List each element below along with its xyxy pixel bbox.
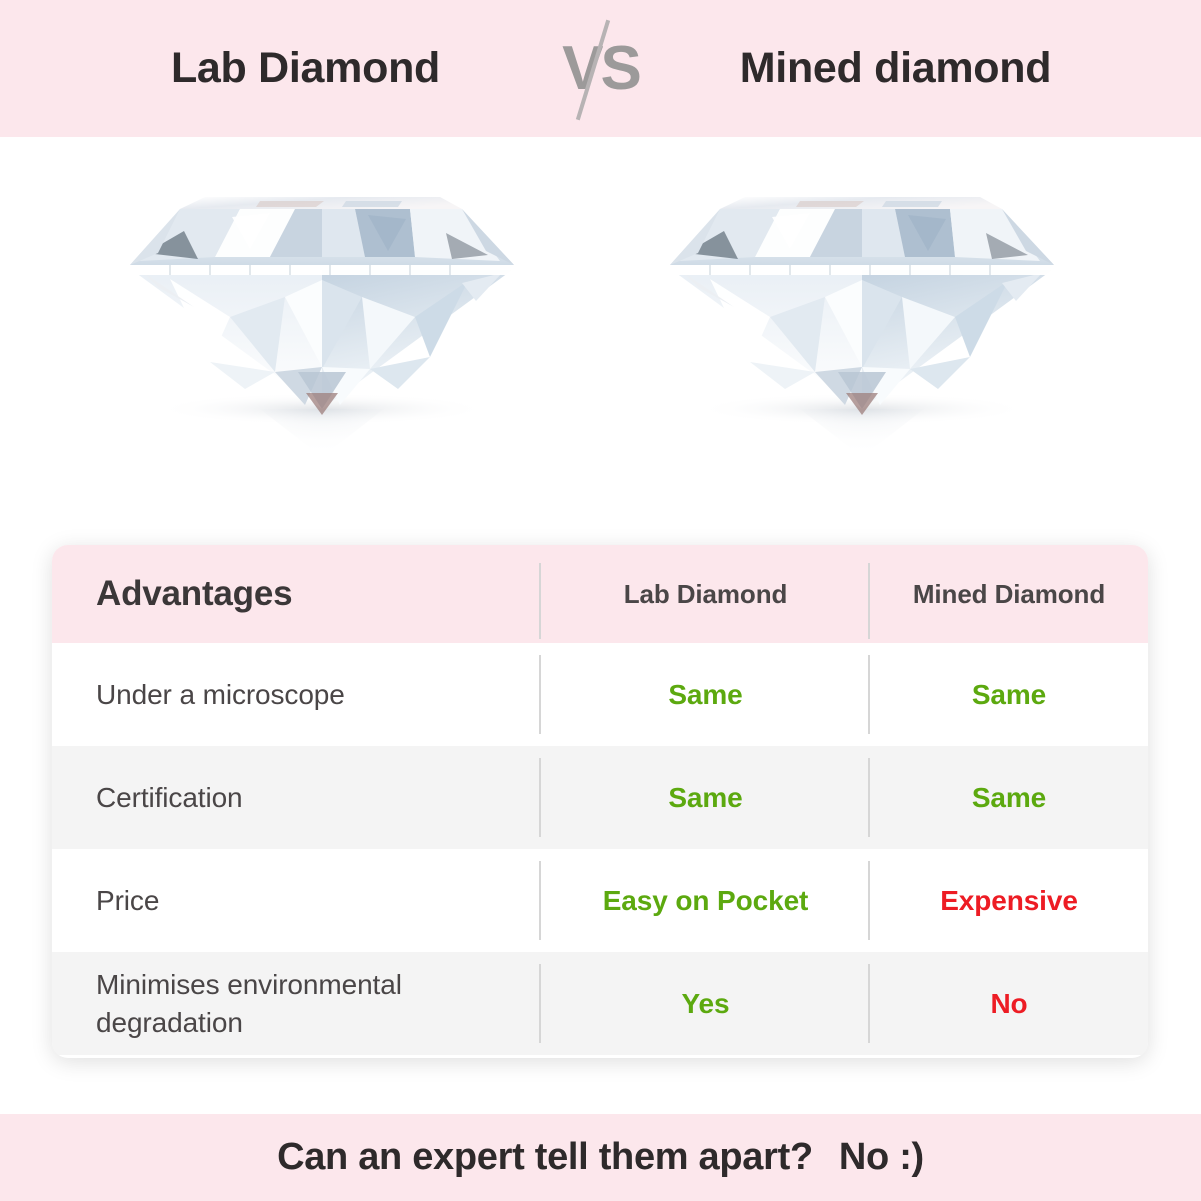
header-title-mined-diamond: Mined diamond [661, 44, 1131, 93]
table-header-mined-diamond: Mined Diamond [870, 545, 1148, 643]
row-label-cell: Certification [52, 746, 541, 849]
table-header-row: Advantages Lab Diamond Mined Diamond [52, 545, 1148, 643]
row-lab-value: Yes [682, 988, 730, 1020]
table-header-advantages: Advantages [52, 545, 541, 643]
row-mined-value-cell: Same [870, 643, 1148, 746]
column-header-label: Mined Diamond [913, 579, 1105, 610]
lab-diamond-svg [110, 157, 530, 487]
row-mined-value-cell: No [870, 952, 1148, 1055]
row-mined-value: No [990, 988, 1027, 1020]
diamond-stage [0, 137, 1201, 537]
vs-badge: VS [541, 14, 661, 124]
table-row: Minimises environmental degradation Yes … [52, 952, 1148, 1055]
row-mined-value: Expensive [940, 885, 1078, 917]
table-row: Price Easy on Pocket Expensive [52, 849, 1148, 952]
row-label-cell: Under a microscope [52, 643, 541, 746]
row-lab-value-cell: Easy on Pocket [541, 849, 870, 952]
footer-answer: No :) [839, 1136, 924, 1179]
row-lab-value-cell: Same [541, 746, 870, 849]
row-lab-value-cell: Yes [541, 952, 870, 1055]
row-mined-value: Same [972, 782, 1046, 814]
column-header-label: Lab Diamond [624, 579, 788, 610]
row-label-cell: Price [52, 849, 541, 952]
row-lab-value: Same [668, 782, 742, 814]
row-label: Price [96, 882, 159, 919]
comparison-card: Advantages Lab Diamond Mined Diamond Und… [52, 545, 1148, 1058]
mined-diamond-svg [650, 157, 1070, 487]
comparison-table: Advantages Lab Diamond Mined Diamond Und… [52, 545, 1148, 1058]
row-label: Under a microscope [96, 676, 345, 713]
header-bar: Lab Diamond VS Mined diamond [0, 0, 1201, 137]
table-row: Under a microscope Same Same [52, 643, 1148, 746]
column-header-label: Advantages [96, 574, 292, 614]
footer-question: Can an expert tell them apart? [277, 1136, 813, 1179]
header-inner: Lab Diamond VS Mined diamond [0, 14, 1201, 124]
row-mined-value-cell: Same [870, 746, 1148, 849]
row-label: Certification [96, 779, 243, 816]
row-lab-value: Same [668, 679, 742, 711]
row-mined-value-cell: Expensive [870, 849, 1148, 952]
row-label: Minimises environmental degradation [96, 966, 541, 1040]
table-header-lab-diamond: Lab Diamond [541, 545, 870, 643]
row-label-cell: Minimises environmental degradation [52, 952, 541, 1055]
mined-diamond-image [650, 157, 1070, 487]
row-mined-value: Same [972, 679, 1046, 711]
footer-bar: Can an expert tell them apart? No :) [0, 1114, 1201, 1201]
lab-diamond-image [110, 157, 530, 487]
header-title-lab-diamond: Lab Diamond [71, 44, 541, 93]
table-row: Certification Same Same [52, 746, 1148, 849]
row-lab-value-cell: Same [541, 643, 870, 746]
row-lab-value: Easy on Pocket [603, 885, 809, 917]
